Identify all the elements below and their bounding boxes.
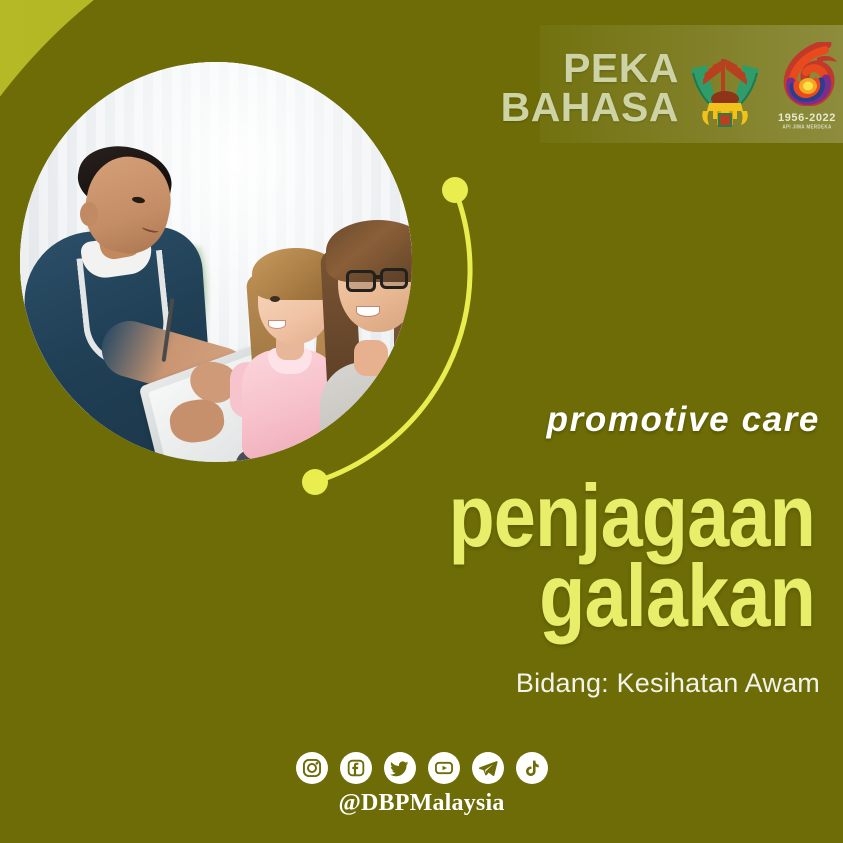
girl-eye <box>270 296 280 302</box>
tiktok-glyph <box>521 758 542 779</box>
instagram-glyph <box>301 757 323 779</box>
girl-mouth <box>268 320 286 329</box>
telegram-glyph <box>477 757 499 779</box>
telegram-icon[interactable] <box>472 752 504 784</box>
api-logo-art <box>771 42 843 106</box>
mother-mouth <box>356 306 380 317</box>
youtube-glyph <box>433 757 455 779</box>
english-term: promotive care <box>470 400 820 440</box>
malay-term-line-2: galakan <box>299 558 815 634</box>
mother-eyeglasses-bridge <box>375 275 383 279</box>
dbp-logo-art <box>687 47 763 129</box>
social-handle: @DBPMalaysia <box>0 790 843 817</box>
dbp-logo <box>687 47 763 129</box>
brand-line-2: BAHASA <box>501 88 679 127</box>
api-logo-years: 1956-2022 <box>771 112 843 124</box>
header-row: PEKA BAHASA <box>540 38 843 138</box>
api-logo-caption: API JIWA MERDEKA <box>771 124 843 130</box>
poster-canvas: PEKA BAHASA <box>0 0 843 843</box>
tiktok-icon[interactable] <box>516 752 548 784</box>
twitter-icon[interactable] <box>384 752 416 784</box>
social-media-row <box>0 752 843 784</box>
facebook-glyph <box>345 757 367 779</box>
doctor-consulting-mother-and-child-photo <box>20 62 412 462</box>
mother-eyeglasses-right <box>380 268 408 289</box>
mother-neck <box>354 340 388 376</box>
brand-wordmark: PEKA BAHASA <box>501 49 679 126</box>
youtube-icon[interactable] <box>428 752 460 784</box>
doctor-ear <box>80 202 98 226</box>
field-label: Bidang: Kesihatan Awam <box>420 668 820 699</box>
mother-eyeglasses-left <box>346 270 376 292</box>
facebook-icon[interactable] <box>340 752 372 784</box>
instagram-icon[interactable] <box>296 752 328 784</box>
malay-term-line-1: penjagaan <box>299 478 815 554</box>
api-jiwa-merdeka-logo: 1956-2022 API JIWA MERDEKA <box>771 42 843 134</box>
twitter-glyph <box>388 757 411 780</box>
